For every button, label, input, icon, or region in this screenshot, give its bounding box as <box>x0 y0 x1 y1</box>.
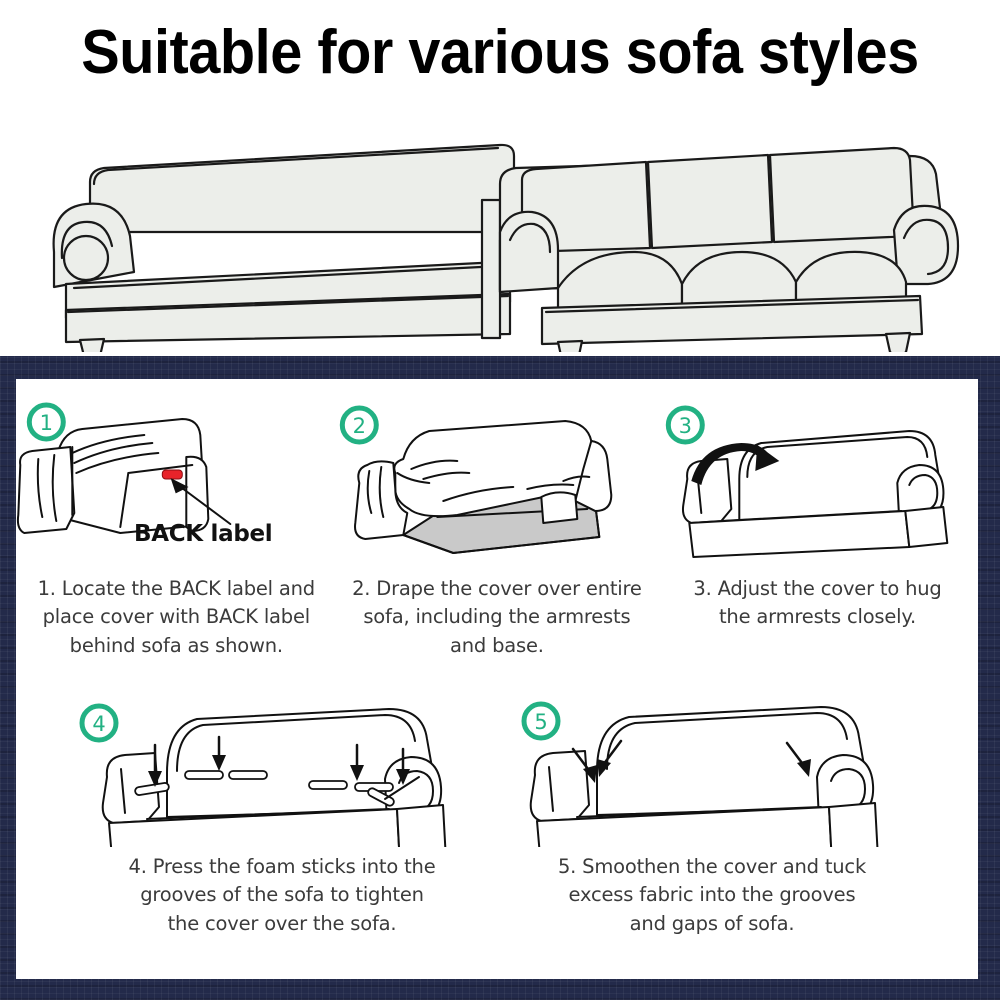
step-5: 5 <box>497 697 927 938</box>
svg-text:1: 1 <box>40 411 53 435</box>
svg-text:3: 3 <box>679 414 692 438</box>
step-4-caption: 4. Press the foam sticks into the groove… <box>67 853 497 938</box>
step-2-caption: 2. Drape the cover over entire sofa, inc… <box>337 575 658 660</box>
step-3: 3 <box>657 397 978 660</box>
adjust-cover-around-armrest-illustration: 3 <box>657 397 978 565</box>
smoothen-cover-and-tuck-fabric-illustration: 5 <box>497 697 927 847</box>
step-4-caption-line-2: grooves of the sofa to tighten <box>81 881 483 909</box>
step-4-caption-line-3: the cover over the sofa. <box>81 910 483 938</box>
step-2-caption-line-2: sofa, including the armrests <box>351 603 644 631</box>
step-2: 2 <box>337 397 658 660</box>
step-2-caption-line-3: and base. <box>351 632 644 660</box>
steps-row-top: 1 <box>16 397 978 660</box>
svg-text:5: 5 <box>534 710 547 734</box>
hero-section: Suitable for various sofa styles <box>0 0 1000 356</box>
product-instruction-graphic: Suitable for various sofa styles <box>0 0 1000 1000</box>
step-badge-1: 1 <box>29 405 63 439</box>
steps-panel: 1 <box>16 379 978 979</box>
step-badge-3: 3 <box>668 408 702 442</box>
step-5-caption-line-1: 5. Smoothen the cover and tuck <box>511 853 913 881</box>
step-3-caption: 3. Adjust the cover to hug the armrests … <box>657 575 978 632</box>
svg-text:4: 4 <box>92 712 105 736</box>
step-5-caption-line-3: and gaps of sofa. <box>511 910 913 938</box>
page-title: Suitable for various sofa styles <box>35 22 965 84</box>
step-2-caption-line-1: 2. Drape the cover over entire <box>351 575 644 603</box>
step-1-caption-line-2: place cover with BACK label <box>30 603 323 631</box>
step-1-caption: 1. Locate the BACK label and place cover… <box>16 575 337 660</box>
press-foam-sticks-into-grooves-illustration: 4 <box>67 697 497 847</box>
step-1: 1 <box>16 397 337 660</box>
svg-text:2: 2 <box>352 414 365 438</box>
step-badge-2: 2 <box>342 408 376 442</box>
back-label-annotation: BACK label <box>134 521 272 547</box>
step-1-caption-line-1: 1. Locate the BACK label and <box>30 575 323 603</box>
step-4: 4 <box>67 697 497 938</box>
step-3-caption-line-1: 3. Adjust the cover to hug <box>671 575 964 603</box>
sofa-cover-with-back-label-illustration: 1 <box>16 397 337 565</box>
step-3-caption-line-2: the armrests closely. <box>671 603 964 631</box>
draping-cover-over-sofa-illustration: 2 <box>337 397 658 565</box>
step-5-caption: 5. Smoothen the cover and tuck excess fa… <box>497 853 927 938</box>
step-1-caption-line-3: behind sofa as shown. <box>30 632 323 660</box>
step-4-caption-line-1: 4. Press the foam sticks into the <box>81 853 483 881</box>
back-label-marker <box>162 470 182 479</box>
step-5-caption-line-2: excess fabric into the grooves <box>511 881 913 909</box>
step-badge-5: 5 <box>524 704 558 738</box>
steps-row-bottom: 4 <box>16 697 978 938</box>
hero-sofa-illustration <box>30 112 970 352</box>
step-badge-4: 4 <box>82 706 116 740</box>
